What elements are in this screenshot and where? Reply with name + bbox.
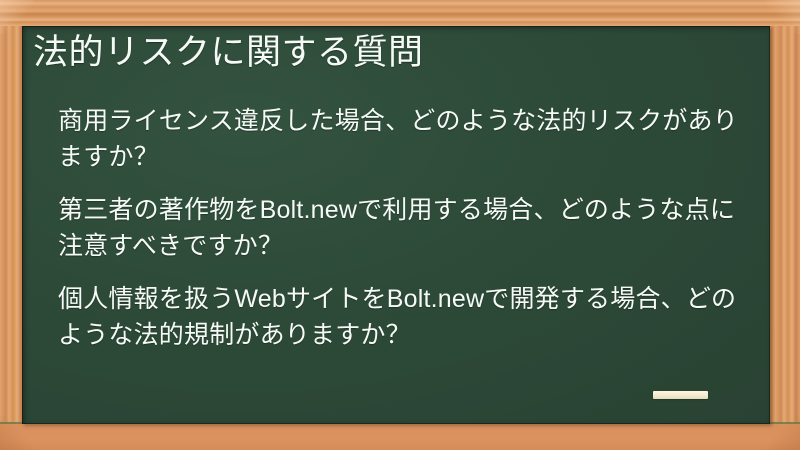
chalk-stick-icon	[653, 391, 708, 399]
chalkboard-surface: 法的リスクに関する質問 商用ライセンス違反した場合、どのような法的リスクがありま…	[22, 26, 770, 424]
frame-bottom-rail	[0, 424, 800, 450]
list-item: 個人情報を扱うWebサイトをBolt.newで開発する場合、どのような法的規制が…	[58, 282, 752, 353]
list-item: 商用ライセンス違反した場合、どのような法的リスクがありますか？	[58, 104, 752, 175]
frame-top-rail	[0, 0, 800, 26]
chalkboard-content: 法的リスクに関する質問 商用ライセンス違反した場合、どのような法的リスクがありま…	[22, 26, 770, 424]
list-item: 第三者の著作物をBolt.newで利用する場合、どのような点に注意すべきですか？	[58, 193, 752, 264]
chalkboard-slide: 法的リスクに関する質問 商用ライセンス違反した場合、どのような法的リスクがありま…	[0, 0, 800, 450]
question-list: 商用ライセンス違反した場合、どのような法的リスクがありますか？ 第三者の著作物を…	[58, 104, 752, 353]
slide-title: 法的リスクに関する質問	[33, 32, 754, 74]
